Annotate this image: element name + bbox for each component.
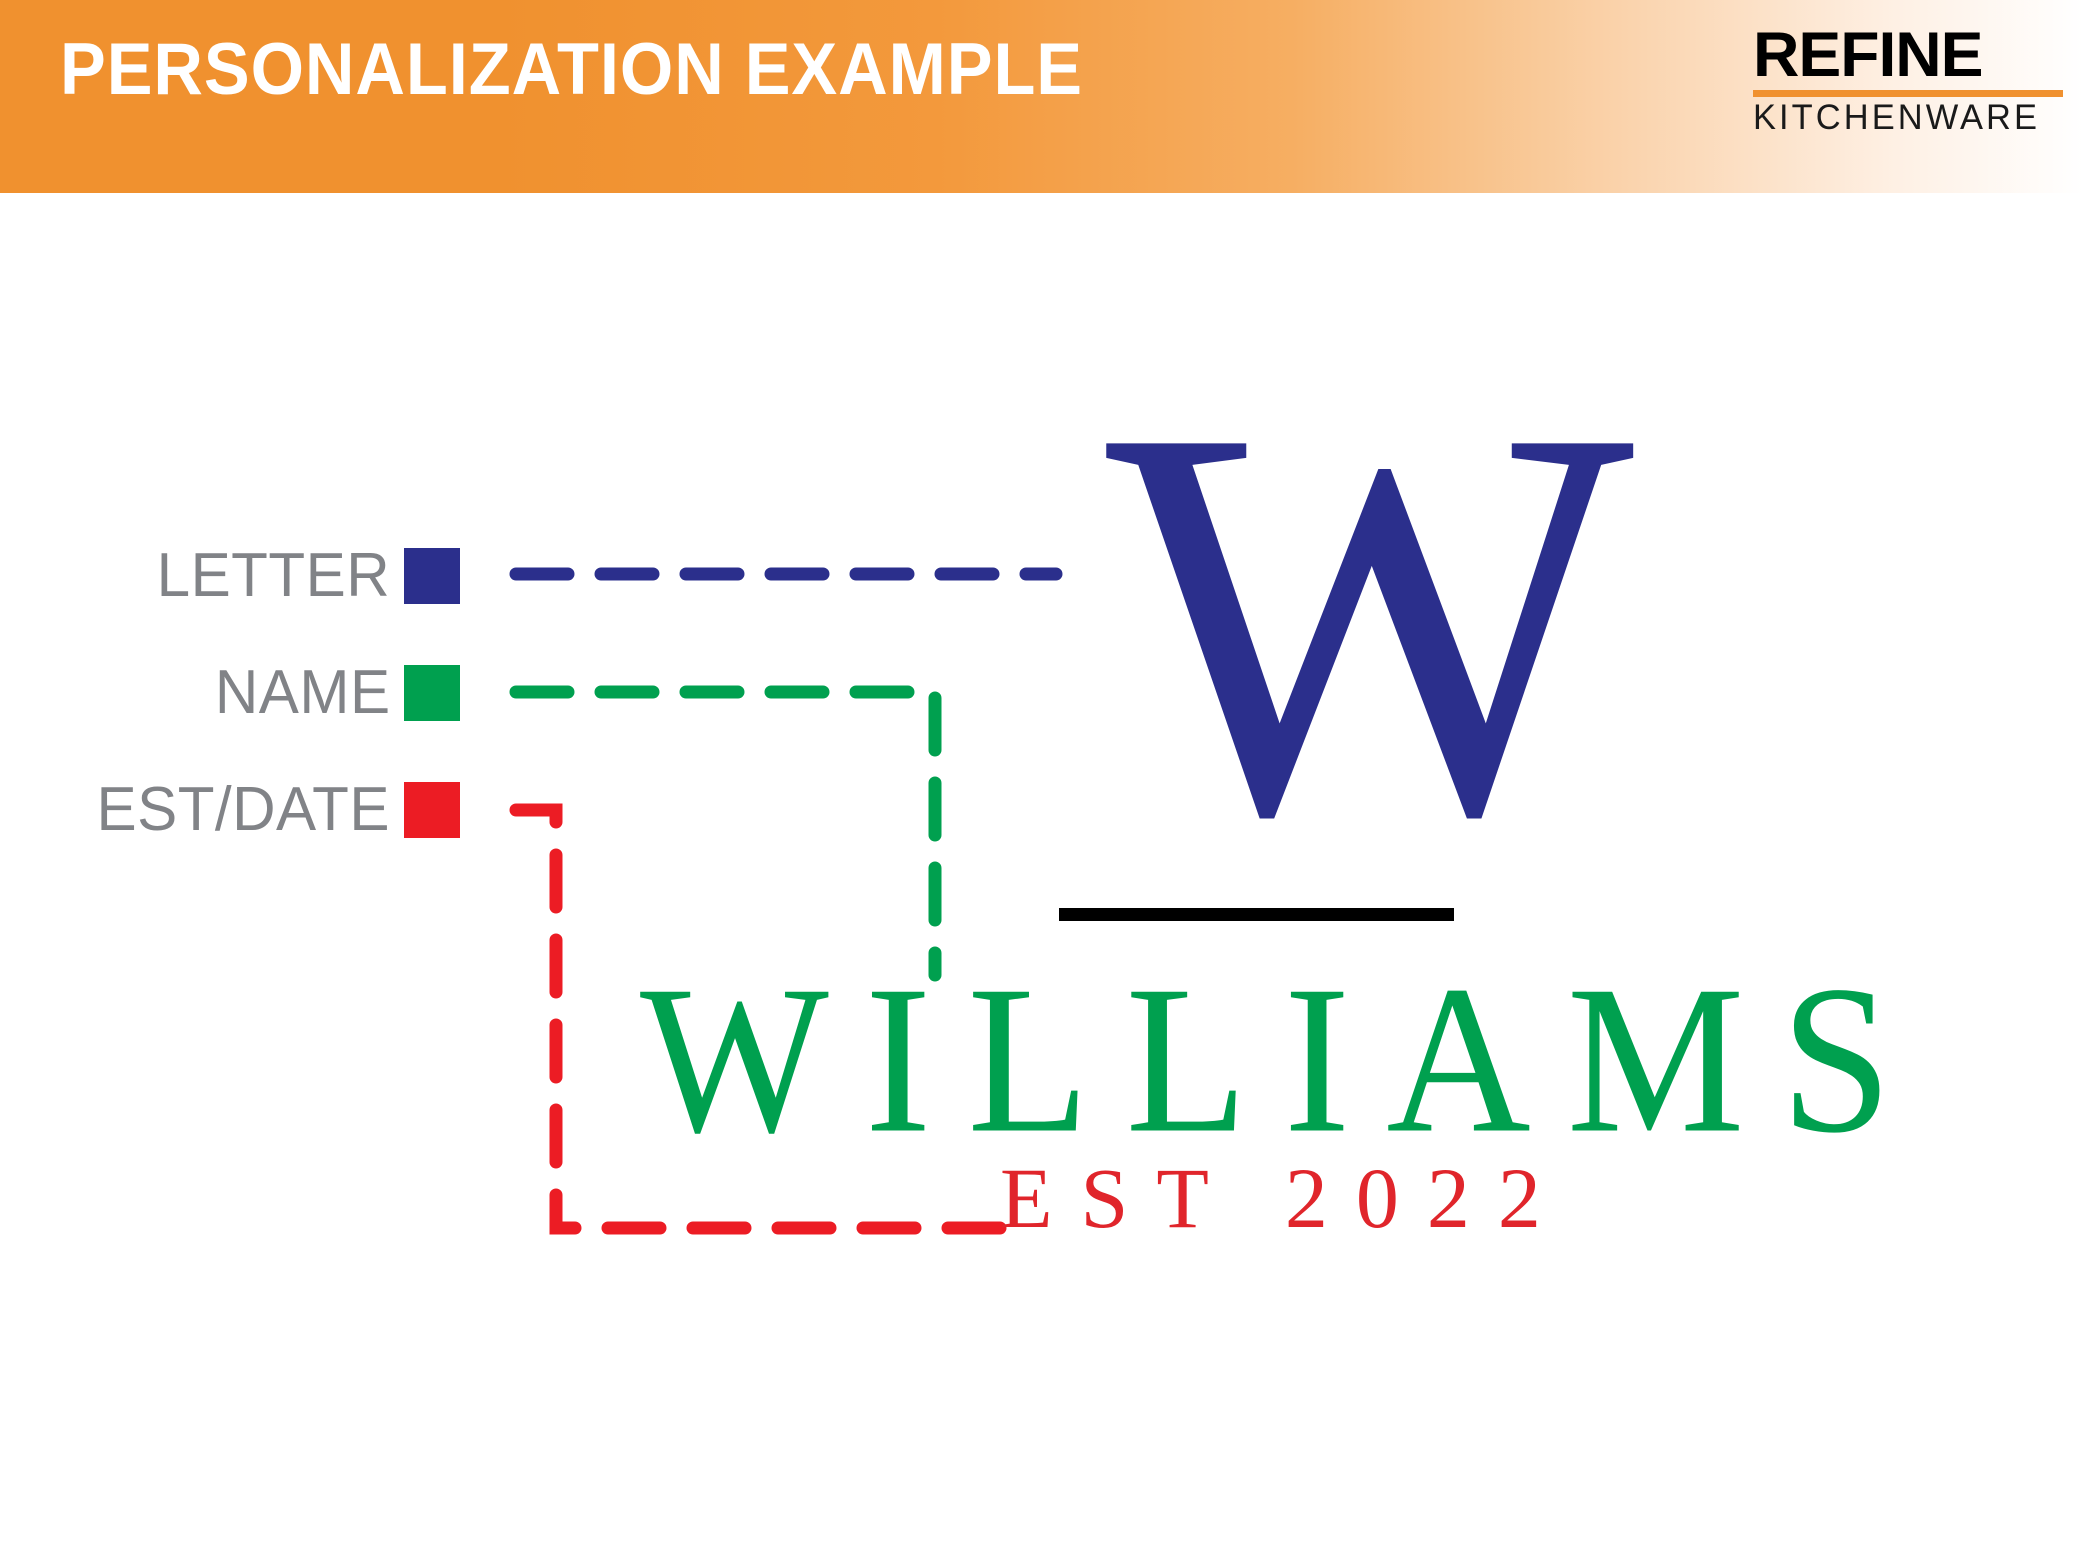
legend-label-letter: LETTER [157, 545, 404, 607]
est-date-color-swatch [404, 782, 460, 838]
name-color-swatch [404, 665, 460, 721]
brand-accent-rule [1753, 90, 2063, 97]
legend-item-name: NAME [0, 662, 460, 724]
letter-color-swatch [404, 548, 460, 604]
legend-label-est-date: EST/DATE [97, 779, 404, 841]
monogram-letter: W [1020, 404, 1720, 841]
monogram-name: WILLIAMS [640, 962, 2040, 1159]
page-title: PERSONALIZATION EXAMPLE [60, 32, 1083, 109]
brand-name: REFINE [1753, 26, 2069, 86]
brand-logo: REFINE KITCHENWARE [1753, 26, 2063, 135]
monogram-established: EST 2022 [1000, 1155, 1569, 1241]
legend-item-letter: LETTER [0, 545, 460, 607]
legend-label-name: NAME [215, 662, 404, 724]
name-connector-line [516, 692, 935, 975]
brand-subtitle: KITCHENWARE [1753, 100, 2058, 135]
legend-item-est-date: EST/DATE [0, 779, 460, 841]
monogram-divider [1059, 908, 1454, 921]
